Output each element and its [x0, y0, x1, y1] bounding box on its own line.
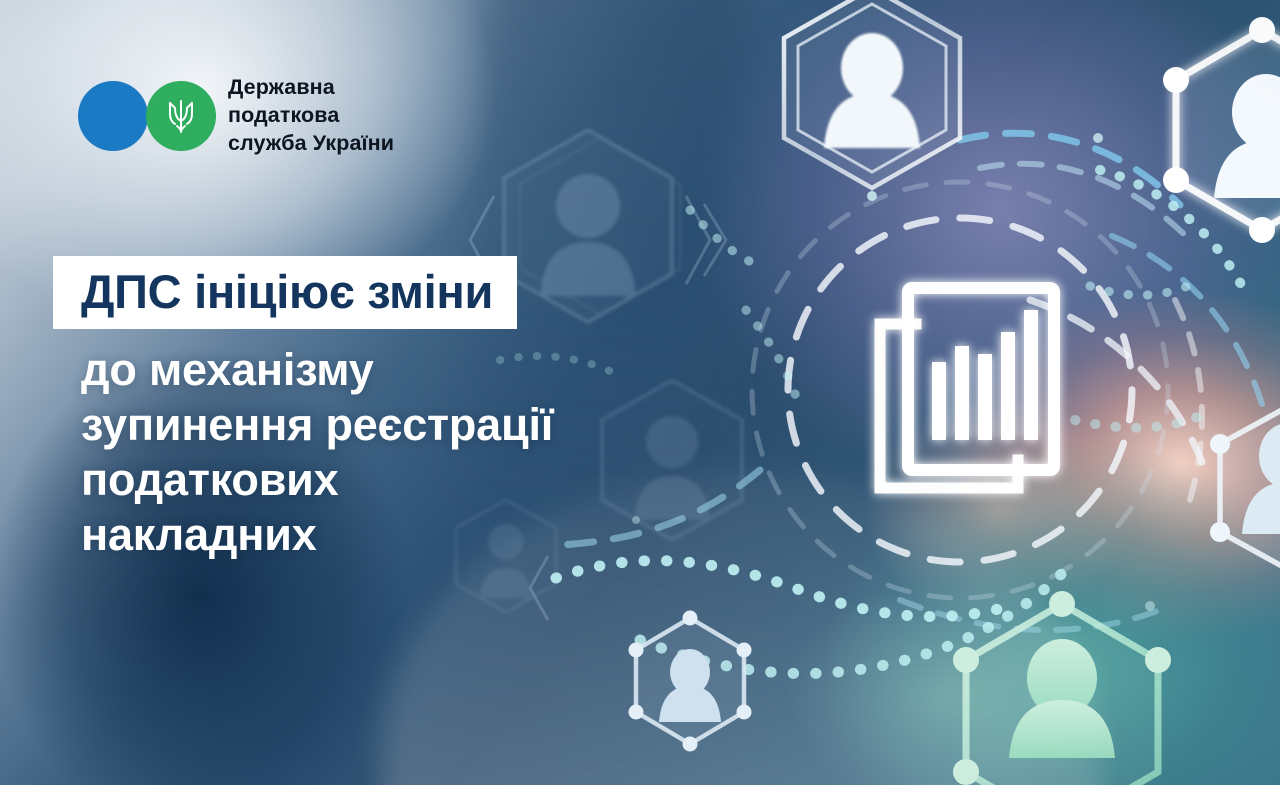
logo-blue-circle-icon — [78, 81, 148, 151]
logo-circles — [78, 81, 216, 151]
logo-text: Державна податкова служба України — [228, 74, 394, 158]
headline-line-4: податкових — [81, 453, 553, 508]
logo-green-circle-icon — [146, 81, 216, 151]
headline: ДПС ініціює зміни до механізму зупинення… — [53, 256, 553, 563]
logo-dps[interactable]: Державна податкова служба України — [78, 74, 394, 158]
tryzub-icon — [164, 96, 198, 136]
headline-line-5: накладних — [81, 508, 553, 563]
banner-canvas: Державна податкова служба України ДПС ін… — [0, 0, 1280, 785]
headline-body: до механізму зупинення реєстрації податк… — [53, 343, 553, 563]
headline-line-2: до механізму — [81, 343, 553, 398]
headline-line-1: ДПС ініціює зміни — [81, 268, 493, 315]
headline-highlight-band: ДПС ініціює зміни — [53, 256, 517, 329]
headline-line-3: зупинення реєстрації — [81, 398, 553, 453]
